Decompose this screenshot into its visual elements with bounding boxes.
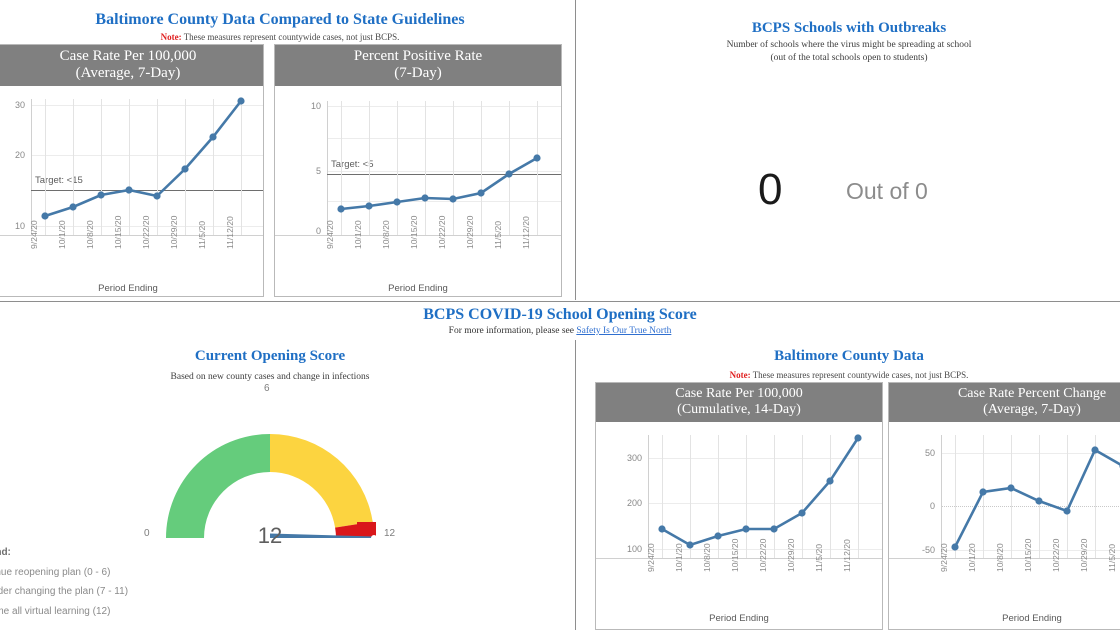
gauge-legend: Legend: Continue reopening plan (0 - 6) …	[0, 543, 128, 621]
gauge-tick-max: 12	[384, 528, 395, 539]
more-info-line: For more information, please see Safety …	[0, 326, 1120, 336]
xtick-label: 10/22/20	[1051, 539, 1061, 572]
x-axis-title: Period Ending	[275, 283, 561, 294]
xtick-label: 11/5/20	[197, 221, 207, 249]
xtick-label: 10/29/20	[169, 216, 179, 249]
series-line-case-rate-avg-7day	[0, 89, 263, 296]
outbreaks-subtitle-line1: Number of schools where the virus might …	[578, 39, 1120, 52]
xtick-label: 10/1/20	[674, 543, 684, 572]
series-line-case-rate-percent-change	[889, 425, 1120, 629]
x-axis-title: Period Ending	[0, 283, 263, 294]
xtick-label: 11/5/20	[1107, 544, 1117, 572]
xtick-label: 11/5/20	[814, 544, 824, 572]
vertical-divider-top	[575, 0, 576, 300]
legend-item: Continue reopening plan (0 - 6)	[0, 563, 128, 583]
xtick-label: 10/29/20	[465, 216, 475, 249]
safety-is-our-true-north-link[interactable]: Safety Is Our True North	[576, 326, 671, 336]
plot-area-case-rate-percent-change: 50 0 -50	[889, 425, 1120, 629]
xtick-label: 10/8/20	[381, 220, 391, 249]
xtick-label: 11/12/20	[225, 216, 235, 249]
xtick-label: 10/29/20	[786, 539, 796, 572]
xtick-label: 10/1/20	[967, 543, 977, 572]
chart-title-case-rate-cumulative-14day: Case Rate Per 100,000 (Cumulative, 14-Da…	[596, 383, 882, 422]
vertical-divider-bottom	[575, 340, 576, 630]
gauge-svg	[110, 388, 430, 538]
xtick-label: 11/12/20	[521, 216, 531, 249]
chart-card-case-rate-percent-change: Case Rate Percent Change (Average, 7-Day…	[888, 382, 1120, 630]
gauge-tick-mid: 6	[264, 383, 270, 394]
legend-header: Legend:	[0, 543, 128, 563]
xtick-label: 10/8/20	[702, 543, 712, 572]
bottom-right-section: Baltimore County Data Note: These measur…	[578, 340, 1120, 630]
xtick-label: 10/15/20	[730, 539, 740, 572]
chart-title-case-rate-percent-change: Case Rate Percent Change (Average, 7-Day…	[889, 383, 1120, 422]
plot-area-case-rate-cumulative-14day: 300 200 100	[596, 425, 882, 629]
outbreaks-subtitle: Number of schools where the virus might …	[578, 39, 1120, 65]
center-title-section: BCPS COVID-19 School Opening Score For m…	[0, 303, 1120, 337]
gauge-title: Current Opening Score	[0, 348, 540, 365]
chart-card-percent-positive-7day: Percent Positive Rate (7-Day) 10 5 0 Tar…	[274, 44, 562, 297]
note-text: These measures represent countywide case…	[753, 370, 969, 380]
outbreak-count: 0	[758, 168, 782, 212]
outbreaks-title: BCPS Schools with Outbreaks	[578, 20, 1120, 37]
xtick-label: 10/22/20	[437, 216, 447, 249]
gauge-band-yellow	[270, 434, 373, 528]
gauge-subtitle: Based on new county cases and change in …	[0, 371, 540, 384]
outbreak-total-label: Out of 0	[846, 180, 928, 203]
bottom-right-note: Note: These measures represent countywid…	[578, 370, 1120, 380]
xtick-label: 9/24/20	[325, 220, 335, 249]
xtick-label: 10/8/20	[85, 220, 95, 249]
note-text: These measures represent countywide case…	[184, 32, 400, 42]
xtick-label: 10/15/20	[409, 216, 419, 249]
note-label: Note:	[161, 32, 182, 42]
gauge-tick-min: 0	[144, 528, 150, 539]
series-line-percent-positive-7day	[275, 89, 561, 296]
xtick-label: 10/15/20	[1023, 539, 1033, 572]
plot-area-case-rate-avg-7day: 30 20 10 Target: <15	[0, 89, 263, 296]
xtick-label: 10/29/20	[1079, 539, 1089, 572]
legend-item: Consider changing the plan (7 - 11)	[0, 582, 128, 602]
xtick-label: 10/8/20	[995, 543, 1005, 572]
xtick-label: 10/1/20	[353, 220, 363, 249]
opening-score-gauge: 0 6 12	[110, 388, 430, 538]
xtick-label: 10/22/20	[141, 216, 151, 249]
top-left-note: Note: These measures represent countywid…	[0, 32, 560, 42]
xtick-label: 10/1/20	[57, 220, 67, 249]
top-left-title: Baltimore County Data Compared to State …	[0, 11, 560, 29]
bottom-right-title: Baltimore County Data	[578, 348, 1120, 365]
xtick-label: 9/24/20	[939, 543, 949, 572]
top-left-section: Baltimore County Data Compared to State …	[0, 0, 575, 300]
xtick-label: 11/12/20	[842, 539, 852, 572]
top-right-section: BCPS Schools with Outbreaks Number of sc…	[578, 0, 1120, 300]
chart-title-case-rate-avg-7day: Case Rate Per 100,000 (Average, 7-Day)	[0, 45, 263, 86]
outbreaks-subtitle-line2: (out of the total schools open to studen…	[578, 52, 1120, 65]
chart-title-percent-positive-7day: Percent Positive Rate (7-Day)	[275, 45, 561, 86]
note-label: Note:	[730, 370, 751, 380]
opening-score-section: Current Opening Score Based on new count…	[0, 340, 575, 630]
x-axis-title: Period Ending	[889, 613, 1120, 624]
gauge-value-label: 12	[170, 523, 370, 549]
legend-item: Resume all virtual learning (12)	[0, 602, 128, 622]
chart-card-case-rate-avg-7day: Case Rate Per 100,000 (Average, 7-Day) 3…	[0, 44, 264, 297]
dashboard-title: BCPS COVID-19 School Opening Score	[0, 306, 1120, 324]
xtick-label: 9/24/20	[646, 543, 656, 572]
xtick-label: 10/15/20	[113, 216, 123, 249]
horizontal-divider	[0, 301, 1120, 302]
x-axis-title: Period Ending	[596, 613, 882, 624]
chart-card-case-rate-cumulative-14day: Case Rate Per 100,000 (Cumulative, 14-Da…	[595, 382, 883, 630]
series-line-case-rate-cumulative-14day	[596, 425, 882, 629]
xtick-label: 9/24/20	[29, 220, 39, 249]
xtick-label: 11/5/20	[493, 221, 503, 249]
more-info-prefix: For more information, please see	[449, 326, 574, 336]
plot-area-percent-positive-7day: 10 5 0 Target: <5	[275, 89, 561, 296]
xtick-label: 10/22/20	[758, 539, 768, 572]
